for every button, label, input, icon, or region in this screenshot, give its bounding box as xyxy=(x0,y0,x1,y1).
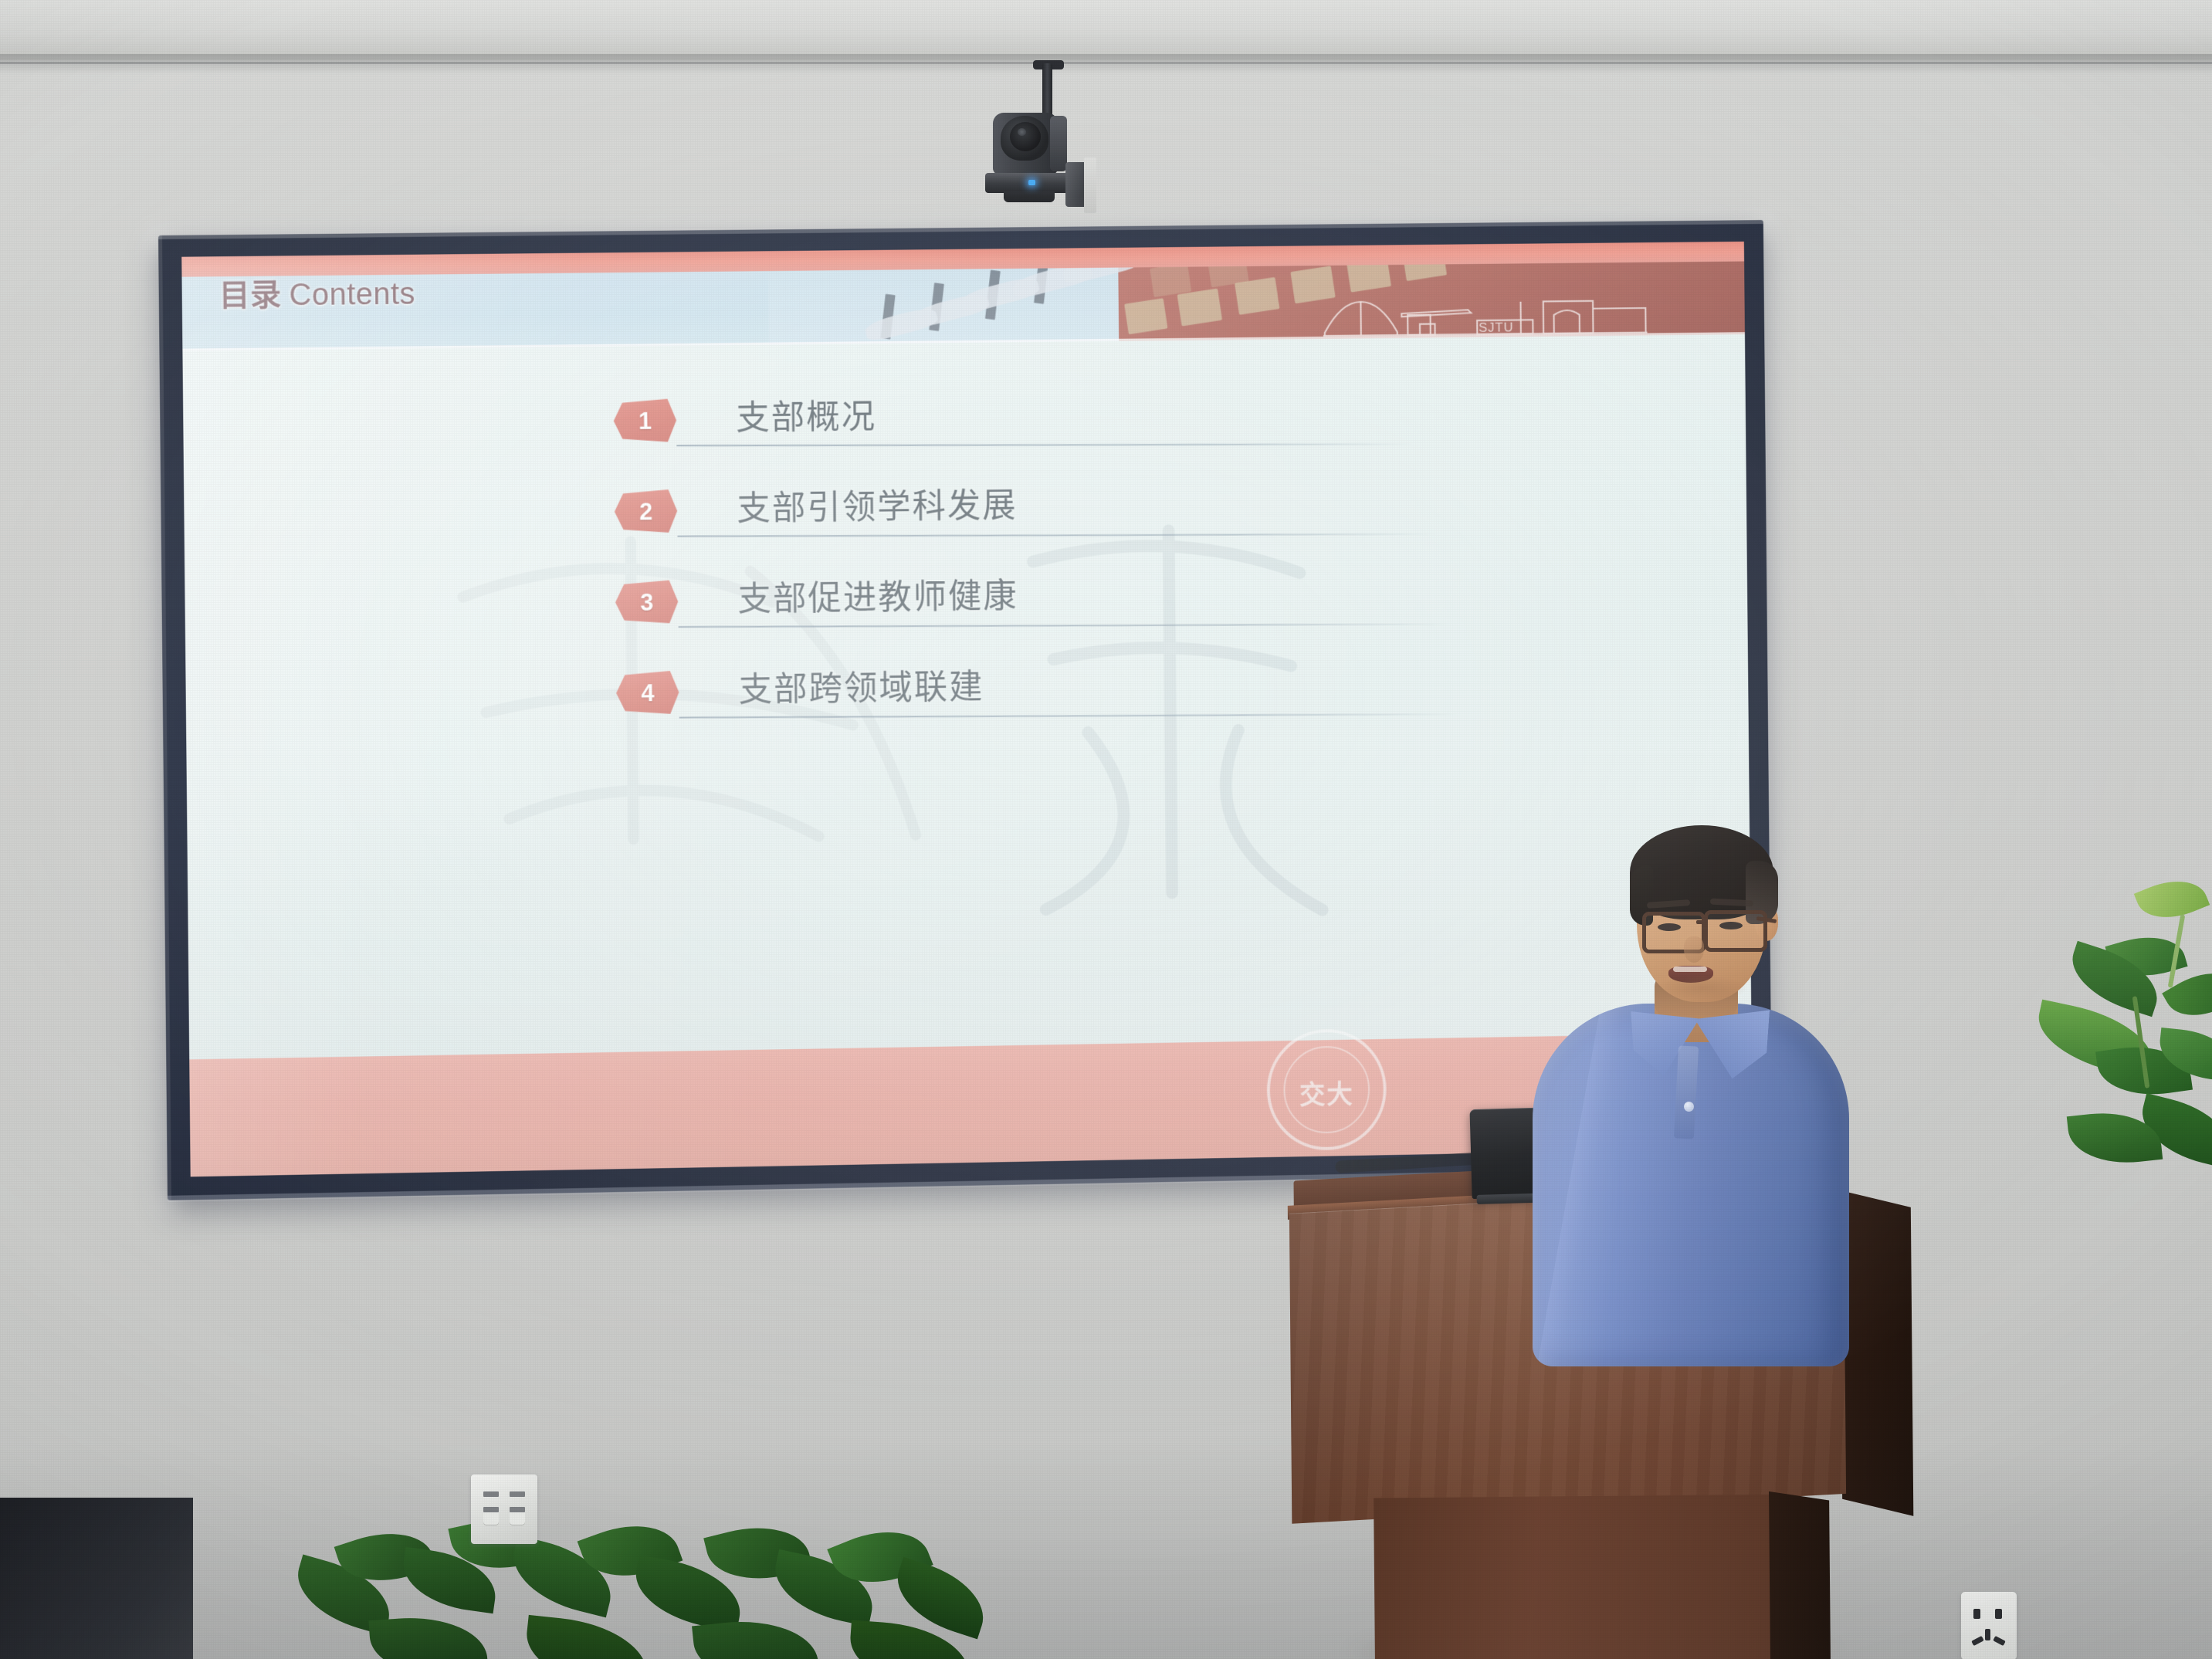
slide-title-en: Contents xyxy=(289,277,415,313)
roof-tile xyxy=(1124,298,1167,334)
data-jack-slot xyxy=(483,1491,499,1497)
contents-number: 2 xyxy=(639,499,652,523)
contents-underline xyxy=(676,443,1413,446)
presenter xyxy=(1525,814,1857,1370)
potted-plants-foreground xyxy=(293,1513,988,1659)
camera-underplate xyxy=(1004,191,1055,202)
contents-underline xyxy=(679,624,1453,628)
contents-label: 支部引领学科发展 xyxy=(737,478,1018,530)
camera-wall-plate xyxy=(1084,157,1096,213)
contents-number-badge: 3 xyxy=(615,580,679,624)
presenter-nose xyxy=(1684,936,1704,963)
camera-lens-glint xyxy=(1018,128,1026,136)
glasses-bridge xyxy=(1696,920,1707,924)
contents-label: 支部促进教师健康 xyxy=(737,568,1018,621)
contents-underline xyxy=(677,533,1437,537)
sjtu-wordmark: SJTU xyxy=(1479,320,1514,335)
slide-title: 目录Contents xyxy=(218,269,415,315)
data-jack-slot xyxy=(510,1507,525,1512)
data-jack-slot xyxy=(510,1491,525,1497)
ceiling-camera xyxy=(982,108,1098,205)
potted-plant-right xyxy=(2023,880,2212,1204)
sjtu-skyline-icon: SJTU xyxy=(1323,285,1647,340)
contents-number-badge: 1 xyxy=(614,399,677,443)
wall-power-socket[interactable] xyxy=(1961,1592,2017,1659)
camera-lens-icon xyxy=(1010,122,1041,151)
slide-title-cn: 目录 xyxy=(218,278,281,313)
left-dark-object xyxy=(0,1498,193,1659)
socket-ground-slot xyxy=(1985,1629,1990,1640)
contents-item[interactable]: 2 支部引领学科发展 xyxy=(615,474,1587,576)
contents-item[interactable]: 3 支部促进教师健康 xyxy=(615,564,1587,667)
data-jack-lip xyxy=(510,1512,525,1525)
wall-data-jack[interactable] xyxy=(471,1474,537,1544)
camera-arm xyxy=(1042,63,1052,117)
camera-status-led xyxy=(1028,180,1035,185)
contents-number-badge: 2 xyxy=(615,489,678,533)
podium-base xyxy=(1374,1495,1777,1659)
presentation-slide: SJTU 目录Contents xyxy=(181,242,1753,1177)
contents-number-badge: 4 xyxy=(616,671,679,715)
contents-item[interactable]: 1 支部概况 xyxy=(613,384,1585,486)
socket-angled-slot xyxy=(1993,1636,2006,1646)
plant-leaf xyxy=(368,1613,488,1659)
socket-hole xyxy=(1995,1609,2002,1619)
university-seal-icon: 交大 xyxy=(1266,1028,1387,1151)
socket-hole xyxy=(1973,1609,1980,1619)
presenter-shirt-button xyxy=(1684,1102,1694,1112)
contents-list: 1 支部概况 2 支部引领学科发展 3 xyxy=(613,384,1587,758)
plant-leaf xyxy=(522,1615,652,1659)
wall-ceiling-seam xyxy=(0,62,2212,64)
contents-number: 4 xyxy=(641,681,654,705)
contents-underline xyxy=(679,713,1462,718)
data-jack-slot xyxy=(483,1507,499,1512)
contents-label: 支部跨领域联建 xyxy=(738,659,984,712)
slide-header: SJTU xyxy=(182,262,1745,351)
presenter-teeth xyxy=(1673,967,1707,972)
camera-side-ear xyxy=(1050,116,1067,171)
ceiling-shadow xyxy=(0,54,2212,74)
podium-microphone xyxy=(1335,1152,1482,1173)
socket-angled-slot xyxy=(1971,1636,1984,1646)
scene-root: SJTU 目录Contents xyxy=(0,0,2212,1659)
contents-item[interactable]: 4 支部跨领域联建 xyxy=(616,654,1588,758)
data-jack-lip xyxy=(483,1512,499,1525)
contents-number: 1 xyxy=(639,408,652,432)
seal-text: 交大 xyxy=(1299,1073,1354,1112)
contents-label: 支部概况 xyxy=(736,389,876,440)
contents-number: 3 xyxy=(640,590,653,614)
ceiling xyxy=(0,0,2212,60)
roof-tile xyxy=(1150,262,1191,297)
presenter-chin-shading xyxy=(1656,975,1747,1001)
roof-tile xyxy=(1177,288,1223,326)
podium-base-side xyxy=(1769,1491,1831,1659)
roof-tile xyxy=(1402,262,1447,282)
